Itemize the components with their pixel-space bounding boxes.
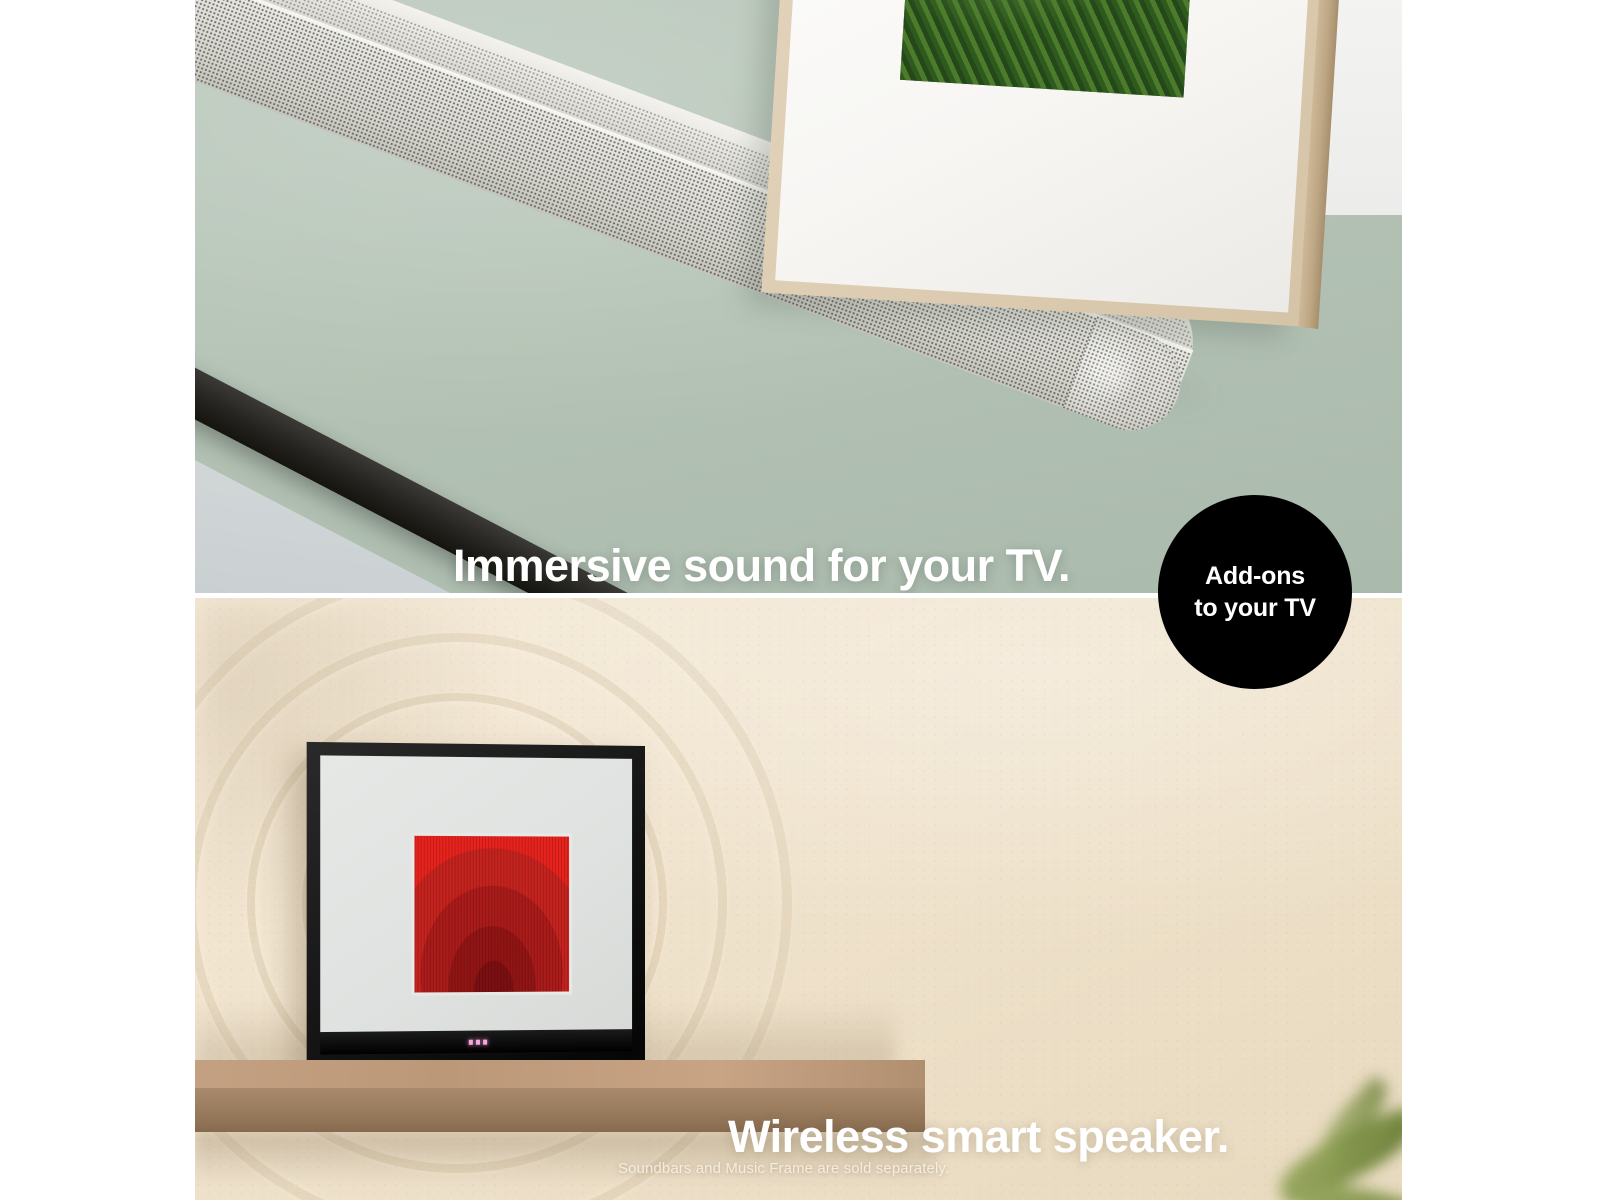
music-frame-led-strip [320,1029,632,1054]
music-frame-mat [320,755,632,1054]
bottom-headline-line-1: Wireless smart speaker. [728,1110,1229,1163]
music-frame-speaker [307,742,645,1068]
disclaimer-text: Soundbars and Music Frame are sold separ… [618,1160,949,1177]
promo-banner: Immersive sound for your TV. Ultra Slim … [0,0,1600,1200]
music-frame-led [469,1039,473,1044]
potted-plant-foreground [1238,1044,1402,1200]
music-frame-bezel [307,742,645,1068]
music-frame-led [483,1039,487,1044]
add-ons-badge-line-2: to your TV [1194,593,1316,624]
music-frame-led [476,1039,480,1044]
add-ons-badge-line-1: Add-ons [1205,561,1305,592]
wall-picture-frame [761,0,1338,326]
artwork-pinstripe-lines [414,836,569,993]
top-headline: Immersive sound for your TV. Ultra Slim … [453,433,1070,593]
top-headline-line-1: Immersive sound for your TV. [453,539,1070,592]
add-ons-badge[interactable]: Add-ons to your TV [1158,495,1352,689]
artwork-canvas [414,836,569,993]
picture-frame-mat [775,0,1325,313]
music-frame-artwork [411,833,572,996]
fern-photograph [900,0,1202,98]
